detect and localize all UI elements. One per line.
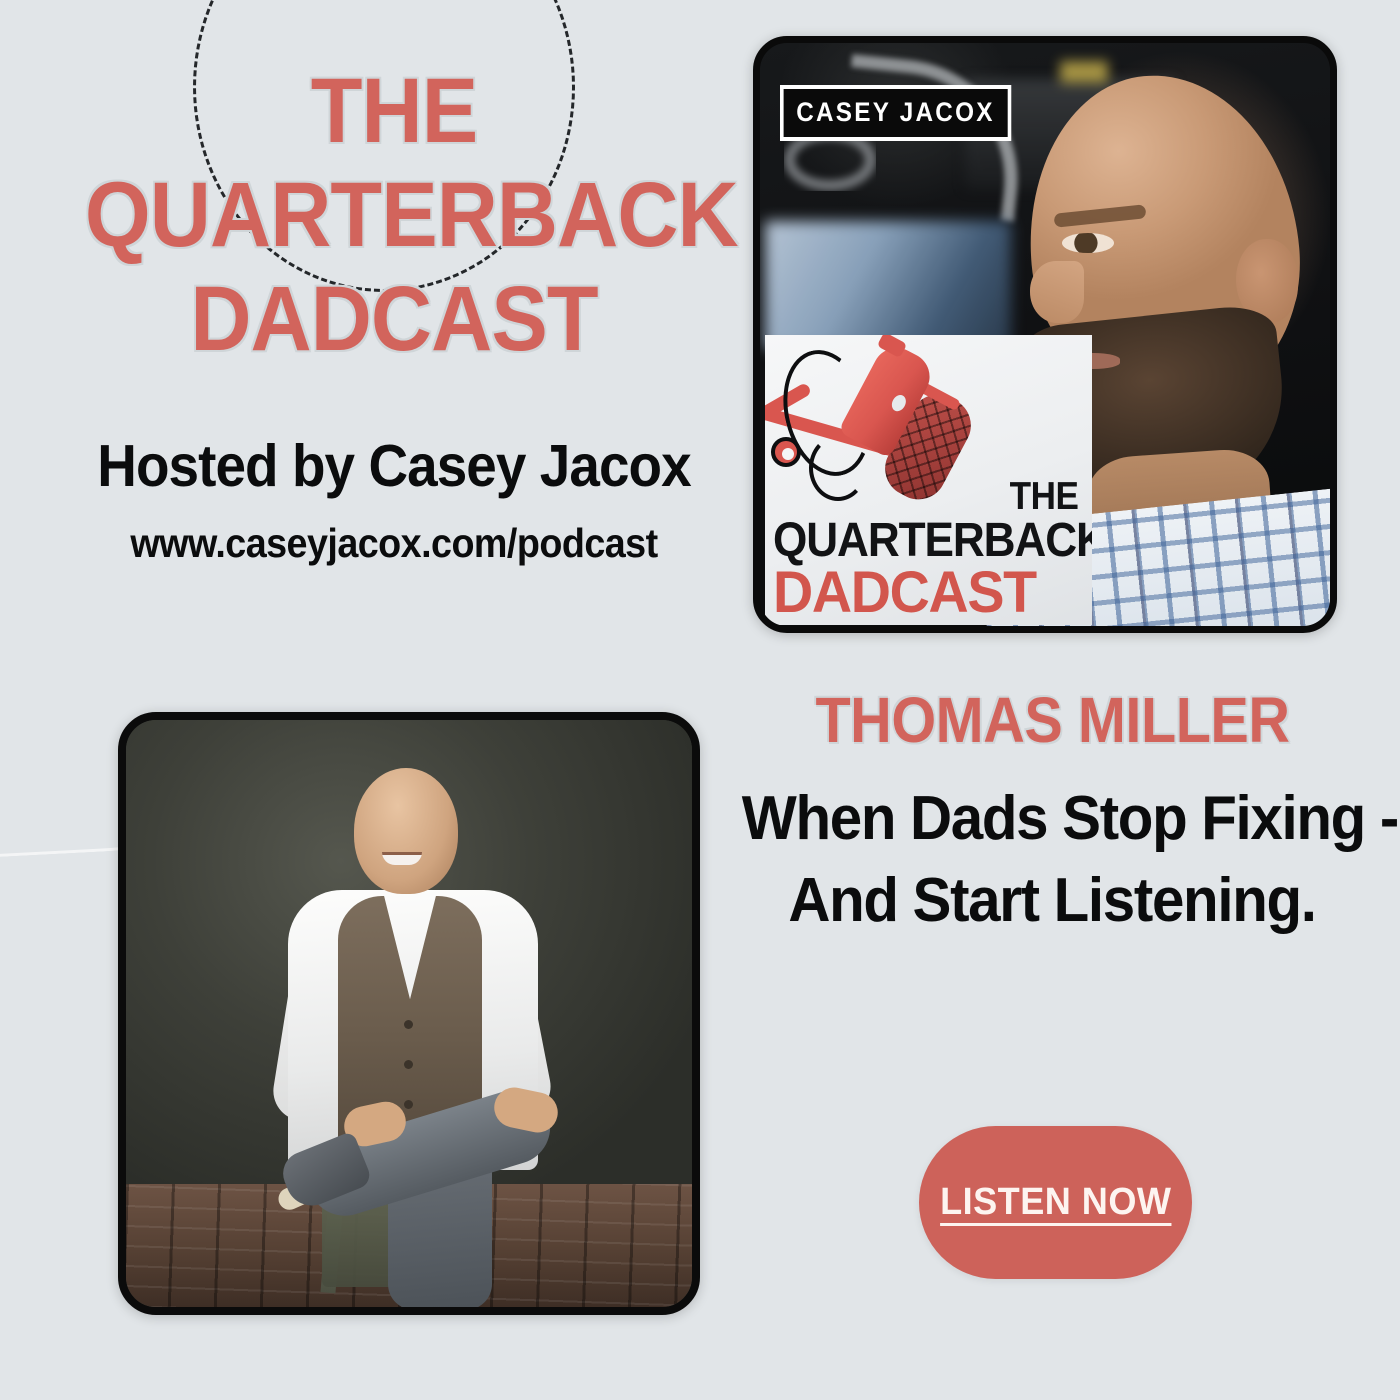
guest-photo[interactable] — [118, 712, 700, 1315]
episode-title-line-1: When Dads Stop Fixing - — [742, 778, 1362, 860]
microphone-icon — [765, 341, 1027, 511]
website-url[interactable]: www.caseyjacox.com/podcast — [85, 520, 703, 567]
listen-now-label: LISTEN NOW — [940, 1181, 1171, 1224]
episode-title-line-2: And Start Listening. — [742, 860, 1362, 942]
page-title: THE QUARTERBACK DADCAST — [85, 60, 703, 372]
listen-now-button[interactable]: LISTEN NOW — [919, 1126, 1192, 1279]
brand-title-line-1: THE — [85, 60, 703, 164]
host-name-badge: CASEY JACOX — [780, 85, 1011, 141]
photo-head — [354, 768, 458, 894]
podcast-logo-tile: THE QUARTERBACK DADCAST — [765, 335, 1092, 625]
guest-name: THOMAS MILLER — [762, 683, 1343, 757]
brand-title-line-3: DADCAST — [85, 268, 703, 372]
brand-title-line-2: QUARTERBACK — [85, 164, 703, 268]
podcast-cover-art[interactable]: THE QUARTERBACK DADCAST CASEY JACOX — [753, 36, 1337, 633]
podcast-promo-poster: THE QUARTERBACK DADCAST Hosted by Casey … — [0, 0, 1400, 1400]
hosted-by-label: Hosted by Casey Jacox — [82, 432, 707, 500]
logo-text-dadcast: DADCAST — [773, 559, 1070, 625]
episode-title: When Dads Stop Fixing - And Start Listen… — [742, 778, 1362, 942]
